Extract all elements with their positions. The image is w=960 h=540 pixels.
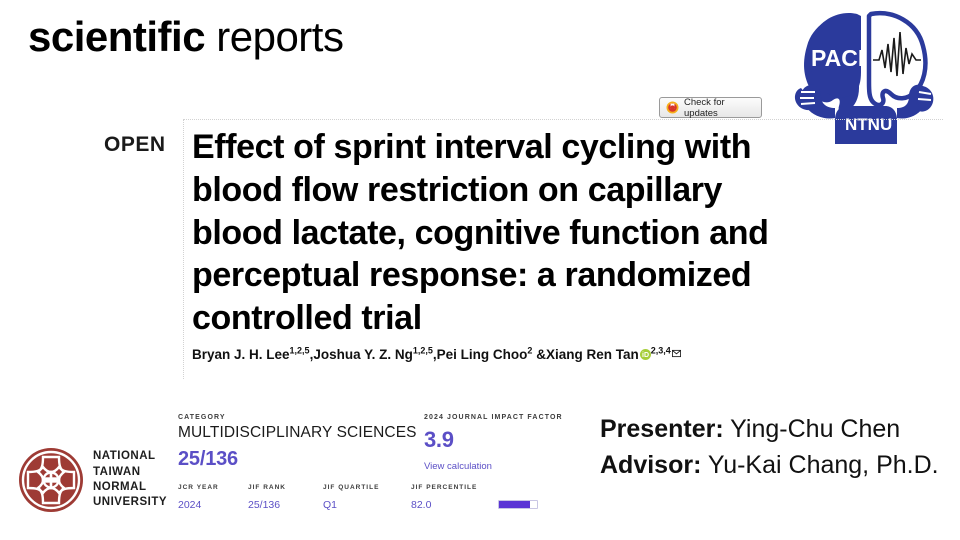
ntnu-seal-icon [18,447,84,513]
jcr-header-cell: JIF PERCENTILE [411,484,489,491]
ntnu-name-line: UNIVERSITY [93,495,167,510]
author-entry: Joshua Y. Z. Ng1,2,5, [313,347,436,362]
lab-logo-body-text: NTNU [845,115,892,134]
crossmark-icon [666,101,679,114]
ntnu-name-line: NORMAL [93,480,167,495]
impact-factor-panel: 2024 JOURNAL IMPACT FACTOR 3.9 View calc… [424,414,574,472]
presentation-slide: scientific reports PACN NTNU [0,0,960,540]
author-affiliations: 1,2,5 [290,346,310,356]
impact-factor-value: 3.9 [424,427,574,453]
jcr-metrics-table: JCR YEAR JIF RANK JIF QUARTILE JIF PERCE… [178,484,538,511]
ntnu-name-line: NATIONAL [93,449,167,464]
advisor-label: Advisor: [600,451,701,479]
pacn-ntnu-lab-logo: PACN NTNU [785,2,950,160]
author-affiliations: 1,2,5 [413,346,433,356]
jcr-header-cell: JIF RANK [248,484,323,491]
journal-wordmark: scientific reports [28,14,343,60]
author-list: Bryan J. H. Lee1,2,5, Joshua Y. Z. Ng1,2… [192,346,681,362]
jcr-table-header-row: JCR YEAR JIF RANK JIF QUARTILE JIF PERCE… [178,484,538,491]
advisor-line: Advisor: Yu-Kai Chang, Ph.D. [600,448,950,484]
impact-factor-eyebrow: 2024 JOURNAL IMPACT FACTOR [424,414,574,421]
jcr-header-cell: JCR YEAR [178,484,248,491]
ntnu-name-line: TAIWAN [93,465,167,480]
advisor-name: Yu-Kai Chang, Ph.D. [708,451,939,479]
jcr-value-cell: 2024 [178,499,248,511]
open-access-label: OPEN [104,133,166,157]
journal-wordmark-light: reports [216,13,343,60]
journal-wordmark-bold: scientific [28,13,205,60]
presenter-label: Presenter: [600,415,724,443]
author-entry: Bryan J. H. Lee1,2,5, [192,347,313,362]
svg-text:iD: iD [642,352,649,359]
article-title: Effect of sprint interval cycling with b… [192,126,772,340]
corresponding-author-mail-icon[interactable] [672,346,681,355]
author-name: Bryan J. H. Lee [192,347,290,362]
ntnu-university-name: NATIONALTAIWANNORMALUNIVERSITY [93,449,167,510]
jcr-value-cell: 82.0 [411,499,489,511]
presenter-line: Presenter: Ying-Chu Chen [600,412,950,448]
presentation-credits: Presenter: Ying-Chu Chen Advisor: Yu-Kai… [600,412,950,483]
author-separator: & [532,347,546,362]
jif-percentile-bar-fill [499,501,530,508]
jcr-table-value-row: 2024 25/136 Q1 82.0 [178,491,538,511]
jcr-value-cell: 25/136 [248,499,323,511]
check-for-updates-label: Check for updates [684,97,755,119]
article-card-left-rule [183,119,184,379]
lab-logo-brain-text: PACN [811,45,874,71]
jcr-value-cell: Q1 [323,499,411,511]
author-affiliations: 2,3,4 [651,346,671,356]
orcid-icon[interactable]: iD [640,348,651,359]
jif-percentile-bar [498,500,538,509]
author-name: Xiang Ren Tan [546,347,639,362]
ntnu-university-logo: NATIONALTAIWANNORMALUNIVERSITY [18,438,170,522]
author-name: Joshua Y. Z. Ng [313,347,413,362]
article-card-top-rule [183,119,943,120]
author-entry: Pei Ling Choo2 & [437,347,546,362]
view-calculation-link[interactable]: View calculation [424,461,574,472]
presenter-name: Ying-Chu Chen [730,415,900,443]
author-entry: Xiang Ren TaniD2,3,4 [546,346,681,362]
author-name: Pei Ling Choo [437,347,528,362]
check-for-updates-badge[interactable]: Check for updates [659,97,762,118]
jcr-header-cell: JIF QUARTILE [323,484,411,491]
